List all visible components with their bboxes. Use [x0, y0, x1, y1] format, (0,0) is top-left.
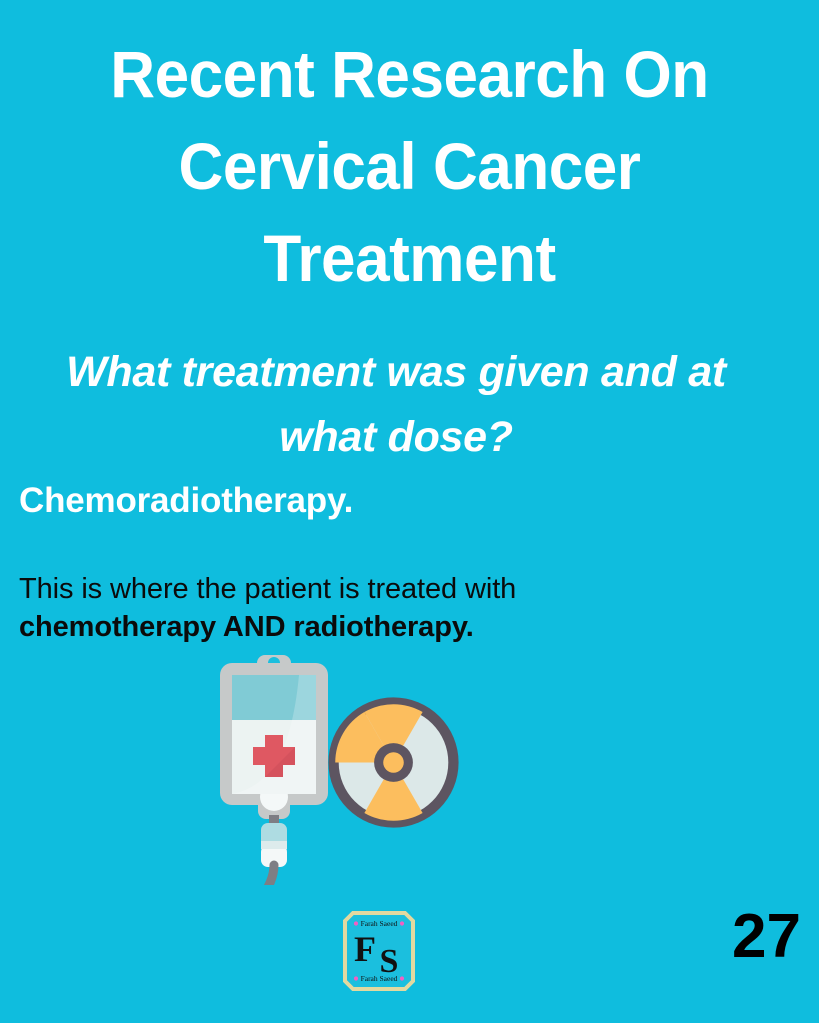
iv-drip-bag-icon	[213, 655, 335, 885]
radiation-hazard-icon	[325, 694, 462, 831]
logo-dot-bottom-right	[400, 976, 404, 980]
logo-dot-top-right	[400, 921, 404, 925]
logo-dot-bottom-left	[354, 976, 358, 980]
farah-saeed-logo: Farah Saeed F S Farah Saeed	[343, 911, 415, 991]
answer-headline: Chemoradiotherapy.	[19, 477, 353, 525]
question-subtitle: What treatment was given and at what dos…	[18, 340, 774, 470]
logo-bottom-text: Farah Saeed	[361, 974, 398, 983]
page-title: Recent Research On Cervical Cancer Treat…	[72, 28, 748, 304]
body-paragraph: This is where the patient is treated wit…	[19, 570, 659, 646]
page-number: 27	[732, 903, 801, 971]
logo-top-text: Farah Saeed	[361, 919, 398, 928]
body-bold-text: chemotherapy AND radiotherapy.	[19, 611, 474, 643]
logo-monogram-f: F	[354, 929, 376, 969]
slide-canvas: Recent Research On Cervical Cancer Treat…	[0, 0, 819, 1023]
treatment-icon-group	[213, 655, 473, 885]
logo-dot-top-left	[354, 921, 358, 925]
body-lead-text: This is where the patient is treated wit…	[19, 573, 516, 605]
